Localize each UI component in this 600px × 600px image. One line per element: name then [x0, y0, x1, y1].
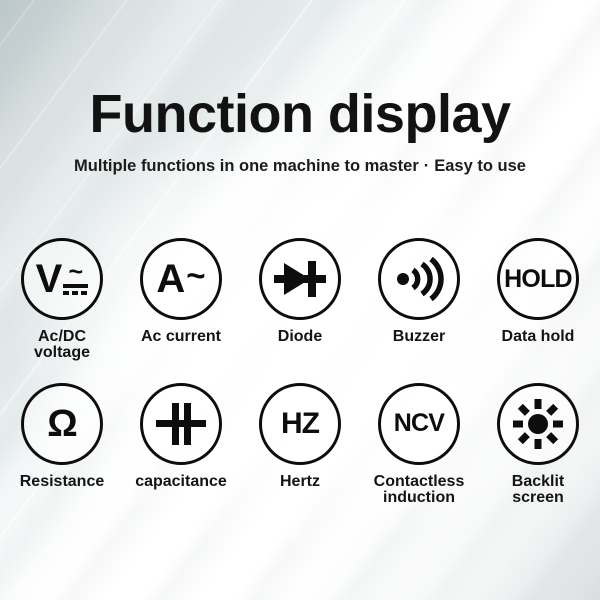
- feature-ac-current[interactable]: A ~ Ac current: [127, 238, 235, 362]
- subtitle-separator: ·: [419, 157, 435, 176]
- dc-solid-line: [63, 284, 88, 288]
- feature-backlit-screen[interactable]: Backlit screen: [484, 383, 592, 507]
- feature-buzzer[interactable]: Buzzer: [365, 238, 473, 362]
- voltage-letter: V: [36, 261, 63, 297]
- feature-resistance[interactable]: Ω Resistance: [8, 383, 116, 507]
- ampere-letter: A: [156, 261, 185, 297]
- feature-label: Backlit screen: [512, 474, 564, 507]
- feature-label: Data hold: [502, 329, 575, 345]
- ac-dc-symbol: ~: [63, 265, 88, 295]
- feature-row-2: Ω Resistance capacitance HZ He: [0, 383, 600, 507]
- feature-label: Diode: [278, 329, 322, 345]
- hold-text: HOLD: [504, 267, 572, 292]
- capacitance-icon: [140, 383, 222, 465]
- feature-label: Contactless induction: [374, 474, 465, 507]
- hertz-icon: HZ: [259, 383, 341, 465]
- feature-ac-dc-voltage[interactable]: V ~ Ac/DC voltage: [8, 238, 116, 362]
- feature-row-1: V ~ Ac/DC voltage A ~: [0, 238, 600, 362]
- feature-label: capacitance: [135, 474, 227, 490]
- ac-tilde: ~: [186, 261, 205, 291]
- page-header: Function display Multiple functions in o…: [0, 86, 600, 176]
- feature-label: Hertz: [280, 474, 320, 490]
- feature-data-hold[interactable]: HOLD Data hold: [484, 238, 592, 362]
- subtitle-right-text: Easy to use: [434, 157, 526, 175]
- page-subtitle: Multiple functions in one machine to mas…: [0, 157, 600, 176]
- ac-dc-voltage-icon: V ~: [21, 238, 103, 320]
- page-title: Function display: [0, 86, 600, 143]
- ncv-text: NCV: [394, 411, 444, 436]
- feature-label: Ac current: [141, 329, 221, 345]
- diode-icon: [259, 238, 341, 320]
- subtitle-left-text: Multiple functions in one machine to mas…: [74, 157, 419, 175]
- ac-current-icon: A ~: [140, 238, 222, 320]
- buzzer-icon: [378, 238, 460, 320]
- dc-dashed-line: [63, 291, 88, 295]
- ohm-resistance-icon: Ω: [21, 383, 103, 465]
- ac-tilde: ~: [63, 265, 88, 281]
- feature-contactless-induction[interactable]: NCV Contactless induction: [365, 383, 473, 507]
- function-display-page: Function display Multiple functions in o…: [0, 0, 600, 600]
- feature-grid: V ~ Ac/DC voltage A ~: [0, 238, 600, 506]
- feature-diode[interactable]: Diode: [246, 238, 354, 362]
- feature-label: Resistance: [20, 474, 105, 490]
- omega-symbol: Ω: [47, 405, 76, 443]
- feature-capacitance[interactable]: capacitance: [127, 383, 235, 507]
- hz-text: HZ: [281, 409, 319, 439]
- feature-hertz[interactable]: HZ Hertz: [246, 383, 354, 507]
- ncv-icon: NCV: [378, 383, 460, 465]
- feature-label: Buzzer: [393, 329, 445, 345]
- feature-label: Ac/DC voltage: [8, 329, 116, 362]
- hold-icon: HOLD: [497, 238, 579, 320]
- backlit-screen-icon: [497, 383, 579, 465]
